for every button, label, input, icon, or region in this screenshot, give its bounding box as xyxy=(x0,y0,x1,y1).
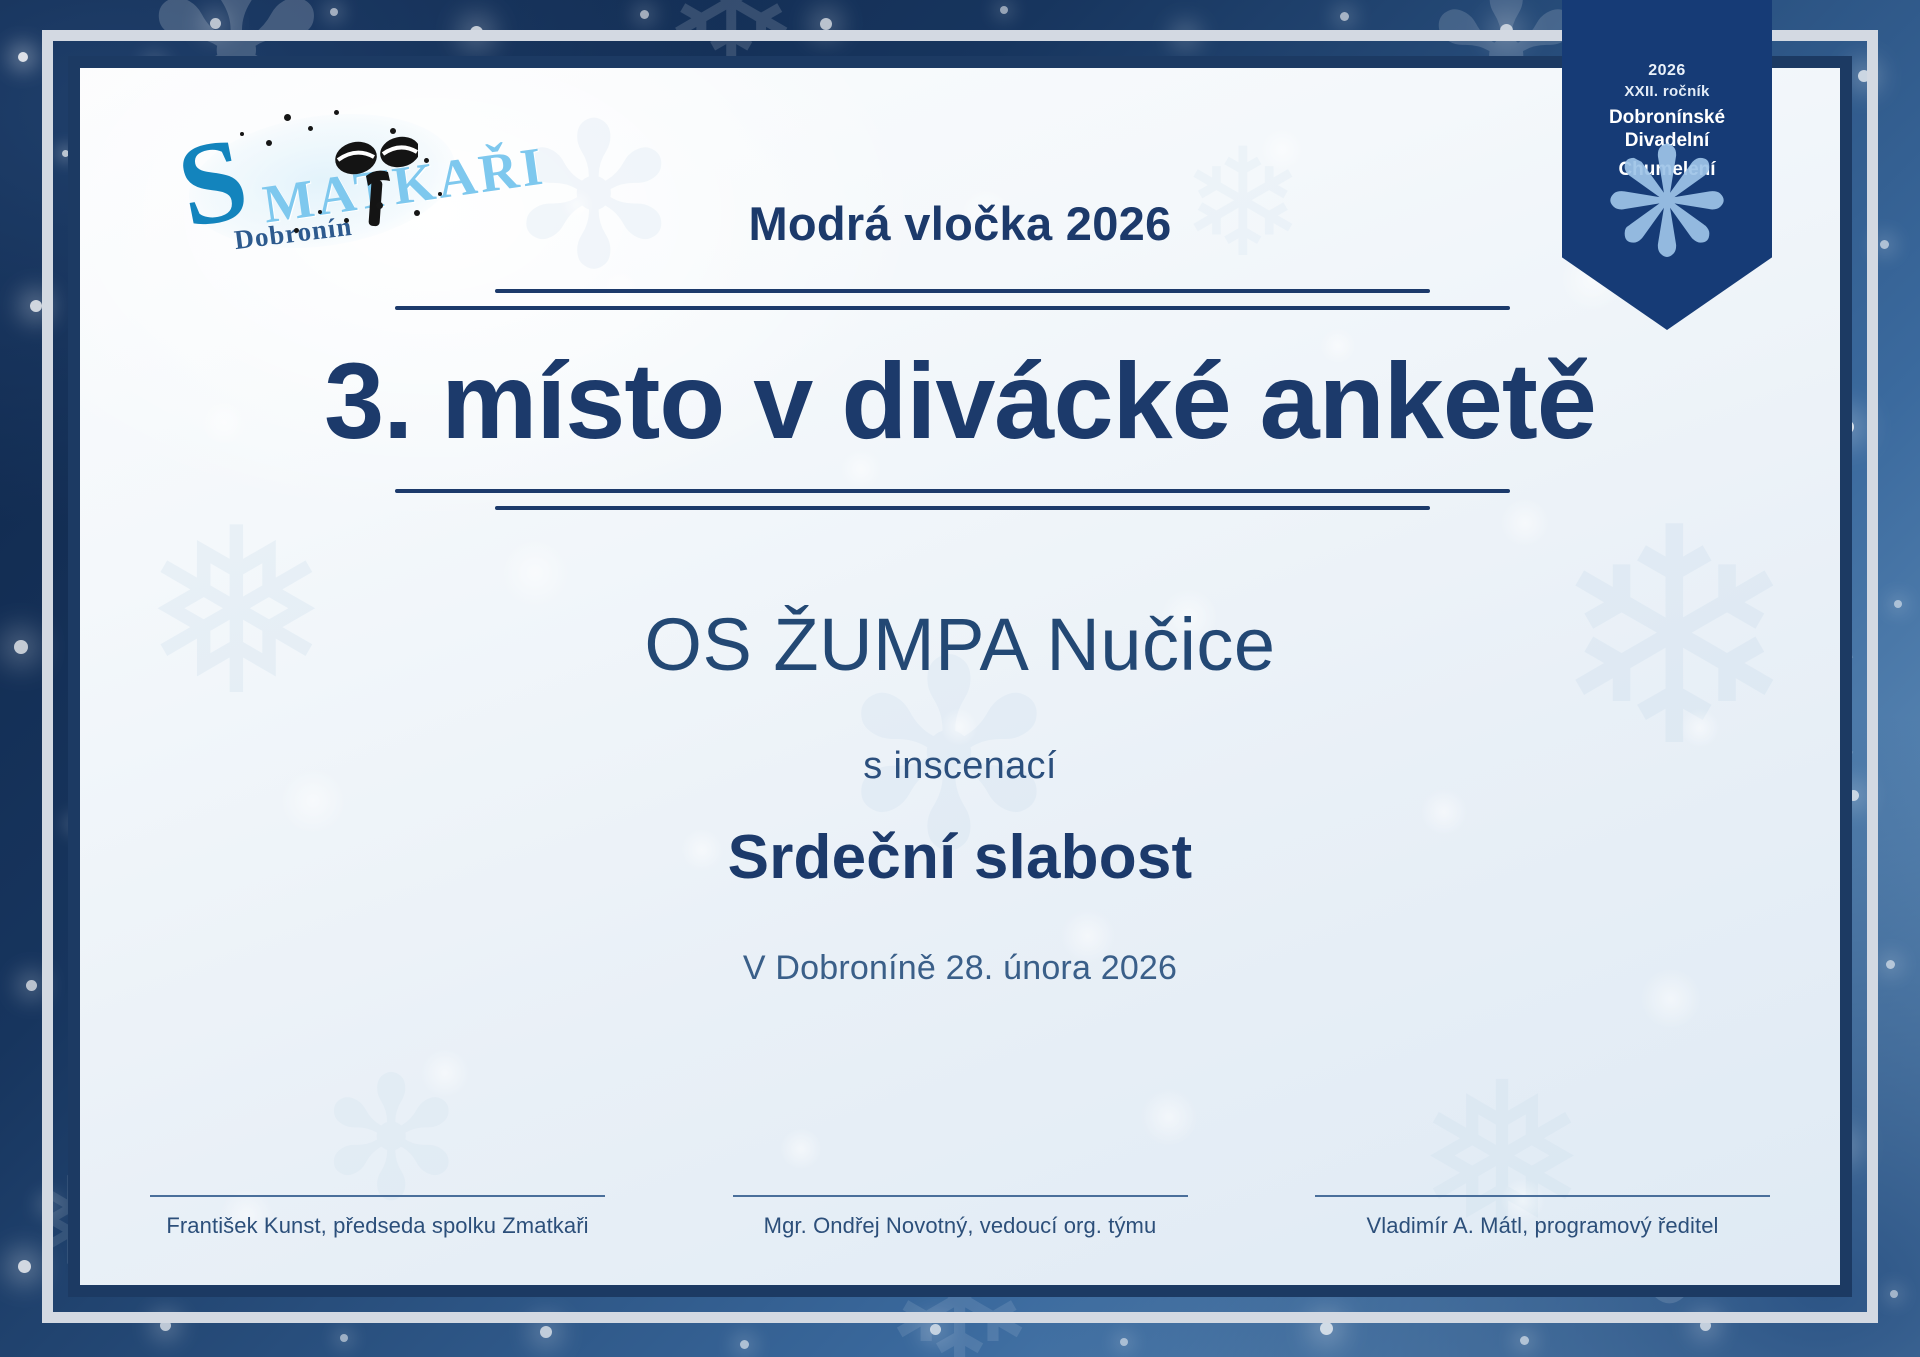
divider-line xyxy=(495,506,1430,510)
certificate-root: ✻ ❄ ✻ ❅ ❄ ✻ ❅ ❄ ✻ ❅ ✻ ❄ ❅ ✻ ❄ S MATKAŘI … xyxy=(0,0,1920,1357)
snow-dot xyxy=(1000,6,1008,14)
ribbon-year: 2026 xyxy=(1562,62,1772,80)
ribbon-edition: XXII. ročník xyxy=(1562,83,1772,100)
snow-dot xyxy=(30,300,42,312)
signature-row: František Kunst, předseda spolku Zmatkař… xyxy=(150,1195,1770,1239)
snow-dot xyxy=(1520,1336,1529,1345)
signature-caption: Mgr. Ondřej Novotný, vedoucí org. týmu xyxy=(733,1213,1188,1239)
signature-caption: Vladimír A. Mátl, programový ředitel xyxy=(1315,1213,1770,1239)
divider-top xyxy=(385,289,1535,310)
play-title: Srdeční slabost xyxy=(728,822,1193,893)
snow-dot xyxy=(210,18,221,29)
snow-dot xyxy=(1320,1322,1333,1335)
place-and-date: V Dobroníně 28. února 2026 xyxy=(743,949,1177,988)
signature-block-program-director: Vladimír A. Mátl, programový ředitel xyxy=(1315,1195,1770,1239)
ribbon-snowflake-icon: ❋ xyxy=(1562,128,1772,278)
event-title: Modrá vločka 2026 xyxy=(748,196,1171,251)
snow-dot xyxy=(820,18,832,30)
signature-line xyxy=(1315,1195,1770,1197)
signature-block-team-lead: Mgr. Ondřej Novotný, vedoucí org. týmu xyxy=(733,1195,1188,1239)
snow-dot xyxy=(1886,960,1895,969)
snow-dot xyxy=(930,1324,941,1335)
snow-dot xyxy=(1894,600,1902,608)
snow-dot xyxy=(1880,240,1889,249)
snow-dot xyxy=(330,8,338,16)
snow-dot xyxy=(640,10,649,19)
divider-bottom xyxy=(385,489,1535,510)
snow-dot xyxy=(1120,1338,1128,1346)
snow-dot xyxy=(26,980,37,991)
snow-dot xyxy=(540,1326,552,1338)
divider-line xyxy=(495,289,1430,293)
snow-dot xyxy=(1890,1290,1898,1298)
award-title: 3. místo v divácké anketě xyxy=(324,344,1596,457)
snow-dot xyxy=(18,52,28,62)
snow-dot xyxy=(14,640,28,654)
snow-dot xyxy=(18,1260,31,1273)
with-production-label: s inscenací xyxy=(863,745,1056,788)
snow-dot xyxy=(1340,12,1349,21)
signature-line xyxy=(733,1195,1188,1197)
recipient-name: OS ŽUMPA Nučice xyxy=(644,602,1275,687)
snow-dot xyxy=(340,1334,348,1342)
snow-dot xyxy=(740,1340,749,1349)
signature-block-chairman: František Kunst, předseda spolku Zmatkař… xyxy=(150,1195,605,1239)
divider-line xyxy=(395,306,1510,310)
signature-caption: František Kunst, předseda spolku Zmatkař… xyxy=(150,1213,605,1239)
signature-line xyxy=(150,1195,605,1197)
divider-line xyxy=(395,489,1510,493)
